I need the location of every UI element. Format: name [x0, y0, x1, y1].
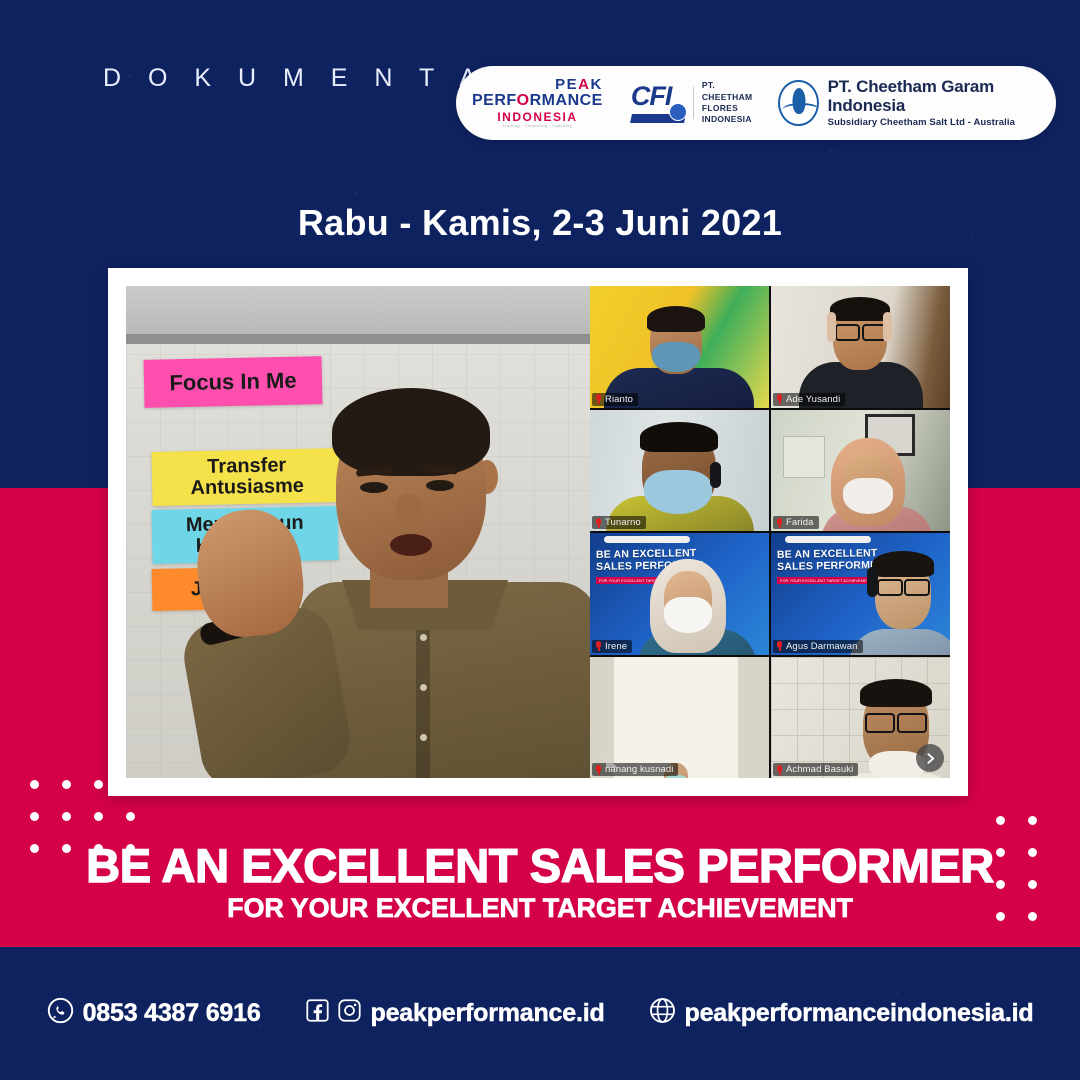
whiteboard-shadow — [126, 334, 590, 344]
website-url: peakperformanceindonesia.id — [685, 999, 1034, 1028]
whatsapp-number: 0853 4387 6916 — [83, 999, 261, 1028]
dot — [30, 780, 39, 789]
participant-name: Farida — [786, 517, 814, 528]
participant-tile[interactable]: Rianto — [590, 286, 769, 408]
participant-tile[interactable]: Ade Yusandi — [771, 286, 950, 408]
social-icons — [305, 998, 362, 1028]
speaker-mouth — [390, 534, 432, 556]
participant-grid: Rianto Ade Yusandi — [590, 286, 950, 778]
participant-mask — [644, 470, 712, 514]
event-date: Rabu - Kamis, 2-3 Juni 2021 — [0, 202, 1080, 244]
dot — [94, 780, 103, 789]
participant-glasses — [865, 713, 895, 733]
globe-icon — [649, 997, 676, 1029]
participant-tile[interactable]: BE AN EXCELLENT SALES PERFORMER FOR YOUR… — [590, 533, 769, 655]
participant-mask — [664, 597, 712, 633]
dot — [1028, 816, 1037, 825]
participant-glasses — [904, 579, 930, 596]
slide-browser-bar — [604, 536, 690, 543]
speaker-eye-left — [360, 482, 388, 493]
participant-headphone — [883, 312, 892, 342]
dot — [62, 812, 71, 821]
participant-hair — [830, 297, 890, 321]
social-handle: peakperformance.id — [371, 999, 605, 1028]
participant-name: Irene — [605, 641, 627, 652]
participant-headset — [710, 462, 721, 488]
peak-logo-tagline: Training · Consulting · Coaching — [503, 125, 572, 129]
cfi-globe-icon — [669, 103, 687, 121]
cheetham-seahorse-icon — [778, 80, 818, 126]
participant-headset — [867, 567, 878, 597]
poster-subheadline: FOR YOUR EXCELLENT TARGET ACHIEVEMENT — [0, 893, 1080, 924]
peak-logo-line1: PEAK — [555, 77, 603, 92]
dot — [30, 812, 39, 821]
participant-hair — [640, 422, 718, 452]
mic-muted-icon — [776, 641, 783, 651]
participant-name: Rianto — [605, 394, 633, 405]
participant-glasses — [897, 713, 927, 733]
participant-nametag: Irene — [592, 640, 632, 653]
slide-browser-bar — [785, 536, 871, 543]
cheetham-subtitle: Subsidiary Cheetham Salt Ltd - Australia — [828, 117, 1042, 128]
room-backdrop — [614, 657, 738, 779]
participant-nametag: Farida — [773, 516, 819, 529]
participant-nametag: nanang kusnadi — [592, 763, 678, 776]
speaker-figure — [244, 382, 590, 778]
participant-mask — [843, 478, 893, 514]
shirt-button — [420, 684, 427, 691]
photo-frame: Focus In Me Transfer Antusiasme Membangu… — [108, 268, 968, 796]
cfi-logo: CFI PT.CHEETHAMFLORESINDONESIA — [619, 80, 765, 126]
participant-nametag: Achmad Basuki — [773, 763, 858, 776]
speaker-eye-right — [426, 480, 454, 491]
participant-glasses — [835, 324, 860, 341]
participant-mask — [652, 342, 700, 372]
mic-muted-icon — [595, 518, 602, 528]
speaker-nose — [396, 494, 422, 528]
footer-social[interactable]: peakperformance.id — [305, 998, 605, 1028]
participant-name: Achmad Basuki — [786, 764, 853, 775]
participant-nametag: Agus Darmawan — [773, 640, 863, 653]
footer-website[interactable]: peakperformanceindonesia.id — [649, 997, 1034, 1029]
peak-logo-line3: INDONESIA — [497, 111, 577, 123]
mic-muted-icon — [776, 518, 783, 528]
dot — [126, 780, 135, 789]
cfi-company-words: PT.CHEETHAMFLORESINDONESIA — [702, 80, 753, 126]
dot — [126, 812, 135, 821]
mic-muted-icon — [776, 394, 783, 404]
poster-canvas: D O K U M E N T A S I PEAK PERFORMANCE I… — [0, 0, 1080, 1080]
cheetham-garam-logo: PT. Cheetham Garam Indonesia Subsidiary … — [764, 78, 1056, 128]
poster-headline: BE AN EXCELLENT SALES PERFORMER — [0, 838, 1080, 893]
dot — [996, 816, 1005, 825]
whiteboard-top-edge — [126, 286, 590, 334]
participant-hair — [872, 551, 934, 577]
contact-footer: 0853 4387 6916 peakperfo — [0, 985, 1080, 1041]
dot — [94, 812, 103, 821]
logo-bar: PEAK PERFORMANCE INDONESIA Training · Co… — [456, 66, 1056, 140]
dot — [62, 780, 71, 789]
mic-muted-icon — [595, 394, 602, 404]
mic-muted-icon — [595, 641, 602, 651]
peak-logo-line2: PERFORMANCE — [472, 93, 603, 109]
participant-tile[interactable]: Tunarno — [590, 410, 769, 532]
cheetham-title: PT. Cheetham Garam Indonesia — [828, 78, 1042, 115]
participant-nametag: Rianto — [592, 393, 638, 406]
logo-divider — [693, 87, 694, 119]
participant-headphone — [827, 312, 836, 342]
participant-hair — [647, 306, 705, 332]
chevron-right-icon[interactable] — [916, 744, 944, 772]
participant-glasses — [877, 579, 903, 596]
footer-whatsapp[interactable]: 0853 4387 6916 — [47, 997, 261, 1029]
facebook-icon[interactable] — [305, 998, 330, 1028]
participant-name: Ade Yusandi — [786, 394, 840, 405]
speaker-hair — [332, 388, 490, 476]
wall-poster — [783, 436, 825, 478]
zoom-meeting-screenshot: Focus In Me Transfer Antusiasme Membangu… — [126, 286, 950, 778]
participant-tile[interactable]: Farida — [771, 410, 950, 532]
participant-name: Agus Darmawan — [786, 641, 858, 652]
instagram-icon[interactable] — [337, 998, 362, 1028]
mic-muted-icon — [776, 765, 783, 775]
participant-tile[interactable]: BE AN EXCELLENT SALES PERFORMER FOR YOUR… — [771, 533, 950, 655]
whatsapp-icon — [47, 997, 74, 1029]
cfi-mark-icon: CFI — [631, 83, 685, 123]
participant-nametag: Ade Yusandi — [773, 393, 845, 406]
shirt-button — [420, 734, 427, 741]
slide-subline: FOR YOUR EXCELLENT TARGET ACHIEVEMENT — [777, 577, 875, 584]
shirt-button — [420, 634, 427, 641]
participant-name: Tunarno — [605, 517, 641, 528]
speaker-video-pane: Focus In Me Transfer Antusiasme Membangu… — [126, 286, 590, 778]
participant-nametag: Tunarno — [592, 516, 646, 529]
peak-performance-logo: PEAK PERFORMANCE INDONESIA Training · Co… — [456, 77, 619, 129]
participant-hair — [860, 679, 932, 707]
mic-muted-icon — [595, 765, 602, 775]
screen-share-corner-icon — [606, 754, 620, 768]
